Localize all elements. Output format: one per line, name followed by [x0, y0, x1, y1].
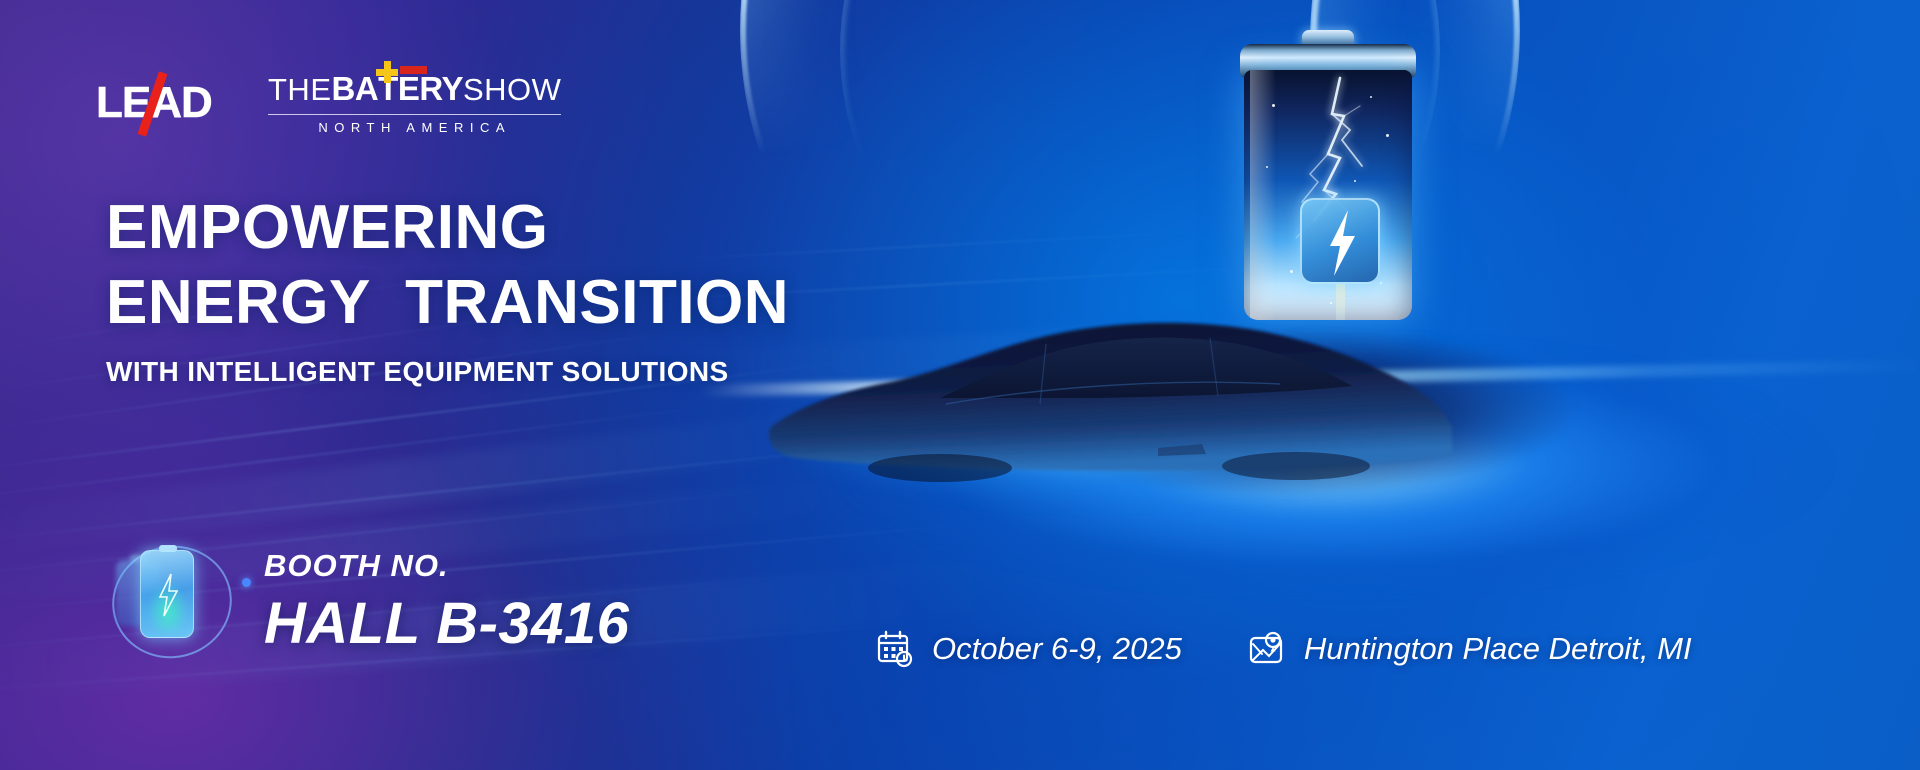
booth-label: BOOTH NO. — [264, 548, 629, 584]
booth-text-block: BOOTH NO. HALL B-3416 — [264, 548, 629, 657]
headline-line-1: EMPOWERING — [106, 190, 926, 265]
bolt-glyph-icon — [1322, 210, 1362, 276]
battery-icon — [140, 550, 194, 638]
event-date-text: October 6-9, 2025 — [932, 631, 1182, 667]
logo-region-label: NORTH AMERICA — [268, 120, 561, 135]
minus-icon — [400, 66, 427, 74]
event-location-text: Huntington Place Detroit, MI — [1304, 631, 1692, 667]
charging-plug-icon — [1300, 198, 1380, 284]
headline-block: EMPOWERING ENERGY TRANSITION WITH INTELL… — [106, 190, 926, 388]
event-date-item: October 6-9, 2025 — [876, 630, 1182, 668]
logo-word-the: THE — [268, 72, 332, 108]
battery-show-logo: THE BA TERY SHOW NORTH AMERICA — [256, 70, 561, 135]
logo-word-ba: BA — [332, 70, 379, 108]
hero-battery-graphic — [1232, 30, 1422, 320]
booth-block: BOOTH NO. HALL B-3416 — [116, 542, 629, 662]
event-meta-row: October 6-9, 2025 Huntington Place Detro… — [876, 630, 1692, 668]
plus-icon — [376, 61, 398, 83]
bolt-outline-icon — [156, 573, 180, 617]
map-pin-icon — [1248, 630, 1286, 668]
battery-body — [1244, 70, 1412, 320]
booth-hall-number: HALL B-3416 — [264, 590, 629, 657]
battery-bolt-icon — [116, 542, 246, 662]
logo-bar: LEAD THE BA TERY SHOW NORTH AMERICA — [96, 70, 561, 135]
battery-show-wordmark: THE BA TERY SHOW — [268, 70, 561, 108]
logo-divider — [268, 114, 561, 115]
headline-subtitle: WITH INTELLIGENT EQUIPMENT SOLUTIONS — [106, 356, 926, 388]
lead-logo: LEAD — [96, 77, 212, 129]
headline-line-2: ENERGY TRANSITION — [106, 265, 926, 340]
logo-word-show: SHOW — [463, 72, 561, 108]
event-location-item: Huntington Place Detroit, MI — [1248, 630, 1692, 668]
orbit-dot-icon — [242, 578, 251, 587]
calendar-clock-icon — [876, 630, 914, 668]
event-banner: LEAD THE BA TERY SHOW NORTH AMERICA EMPO… — [0, 0, 1920, 770]
